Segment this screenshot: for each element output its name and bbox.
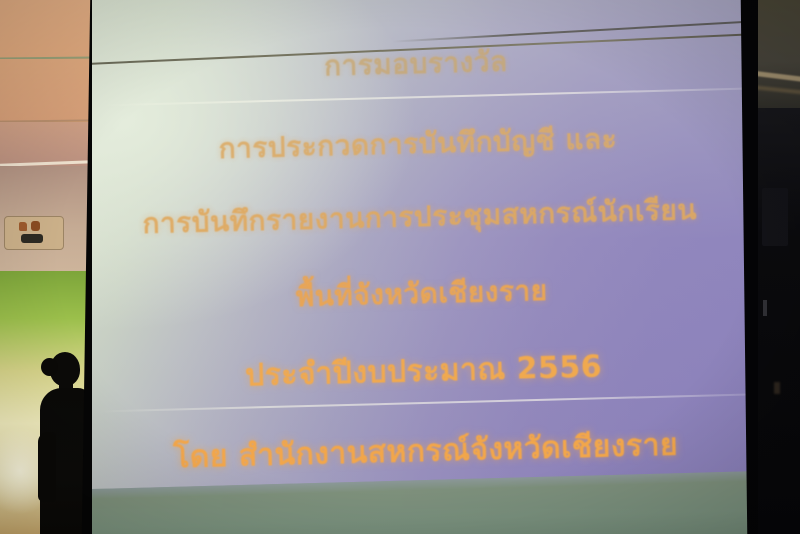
slide-rule-bottom: [98, 393, 748, 412]
sign-mark-icon: [31, 221, 40, 231]
wall-sign: [4, 216, 64, 250]
slide-line-fiscal-year: ประจำปีงบประมาณ 2556: [94, 340, 750, 404]
right-dark-area: [758, 108, 800, 534]
right-highlight-secondary: [774, 382, 780, 394]
projection-screen: การมอบรางวัล การประกวดการบันทึกบัญชี และ…: [92, 0, 750, 534]
sign-mark-icon: [19, 222, 27, 231]
right-highlight: [763, 300, 767, 316]
projection-light-wash: [92, 0, 750, 534]
person-hair: [41, 358, 58, 376]
wall-upper: [0, 122, 92, 166]
screenshot-root: การมอบรางวัล การประกวดการบันทึกบัญชี และ…: [0, 0, 800, 534]
slide-line-subject-2: การบันทึกรายงานการประชุมสหกรณ์นักเรียน: [92, 187, 749, 248]
slide-text-block: การมอบรางวัล การประกวดการบันทึกบัญชี และ…: [92, 0, 750, 534]
overhead-wire: [92, 32, 750, 65]
room-left-environment: [0, 0, 92, 534]
slide-line-subject-1: การประกวดการบันทึกบัญชี และ: [92, 114, 747, 175]
ceiling-band-lower: [0, 59, 92, 121]
overhead-wire-secondary: [392, 19, 750, 42]
sign-mark-icon: [21, 234, 43, 243]
person-arm: [38, 432, 56, 502]
right-ceiling: [758, 0, 800, 112]
ceiling-band-upper: [0, 0, 92, 58]
slide-footer-band: [92, 471, 750, 534]
slide-line-title: การมอบรางวัล: [92, 34, 745, 95]
slide-line-area: พื้นที่จังหวัดเชียงราย: [92, 264, 750, 325]
room-right-environment: [758, 0, 800, 534]
slide-rule-top: [98, 87, 748, 106]
wall-speaker: [762, 188, 788, 246]
